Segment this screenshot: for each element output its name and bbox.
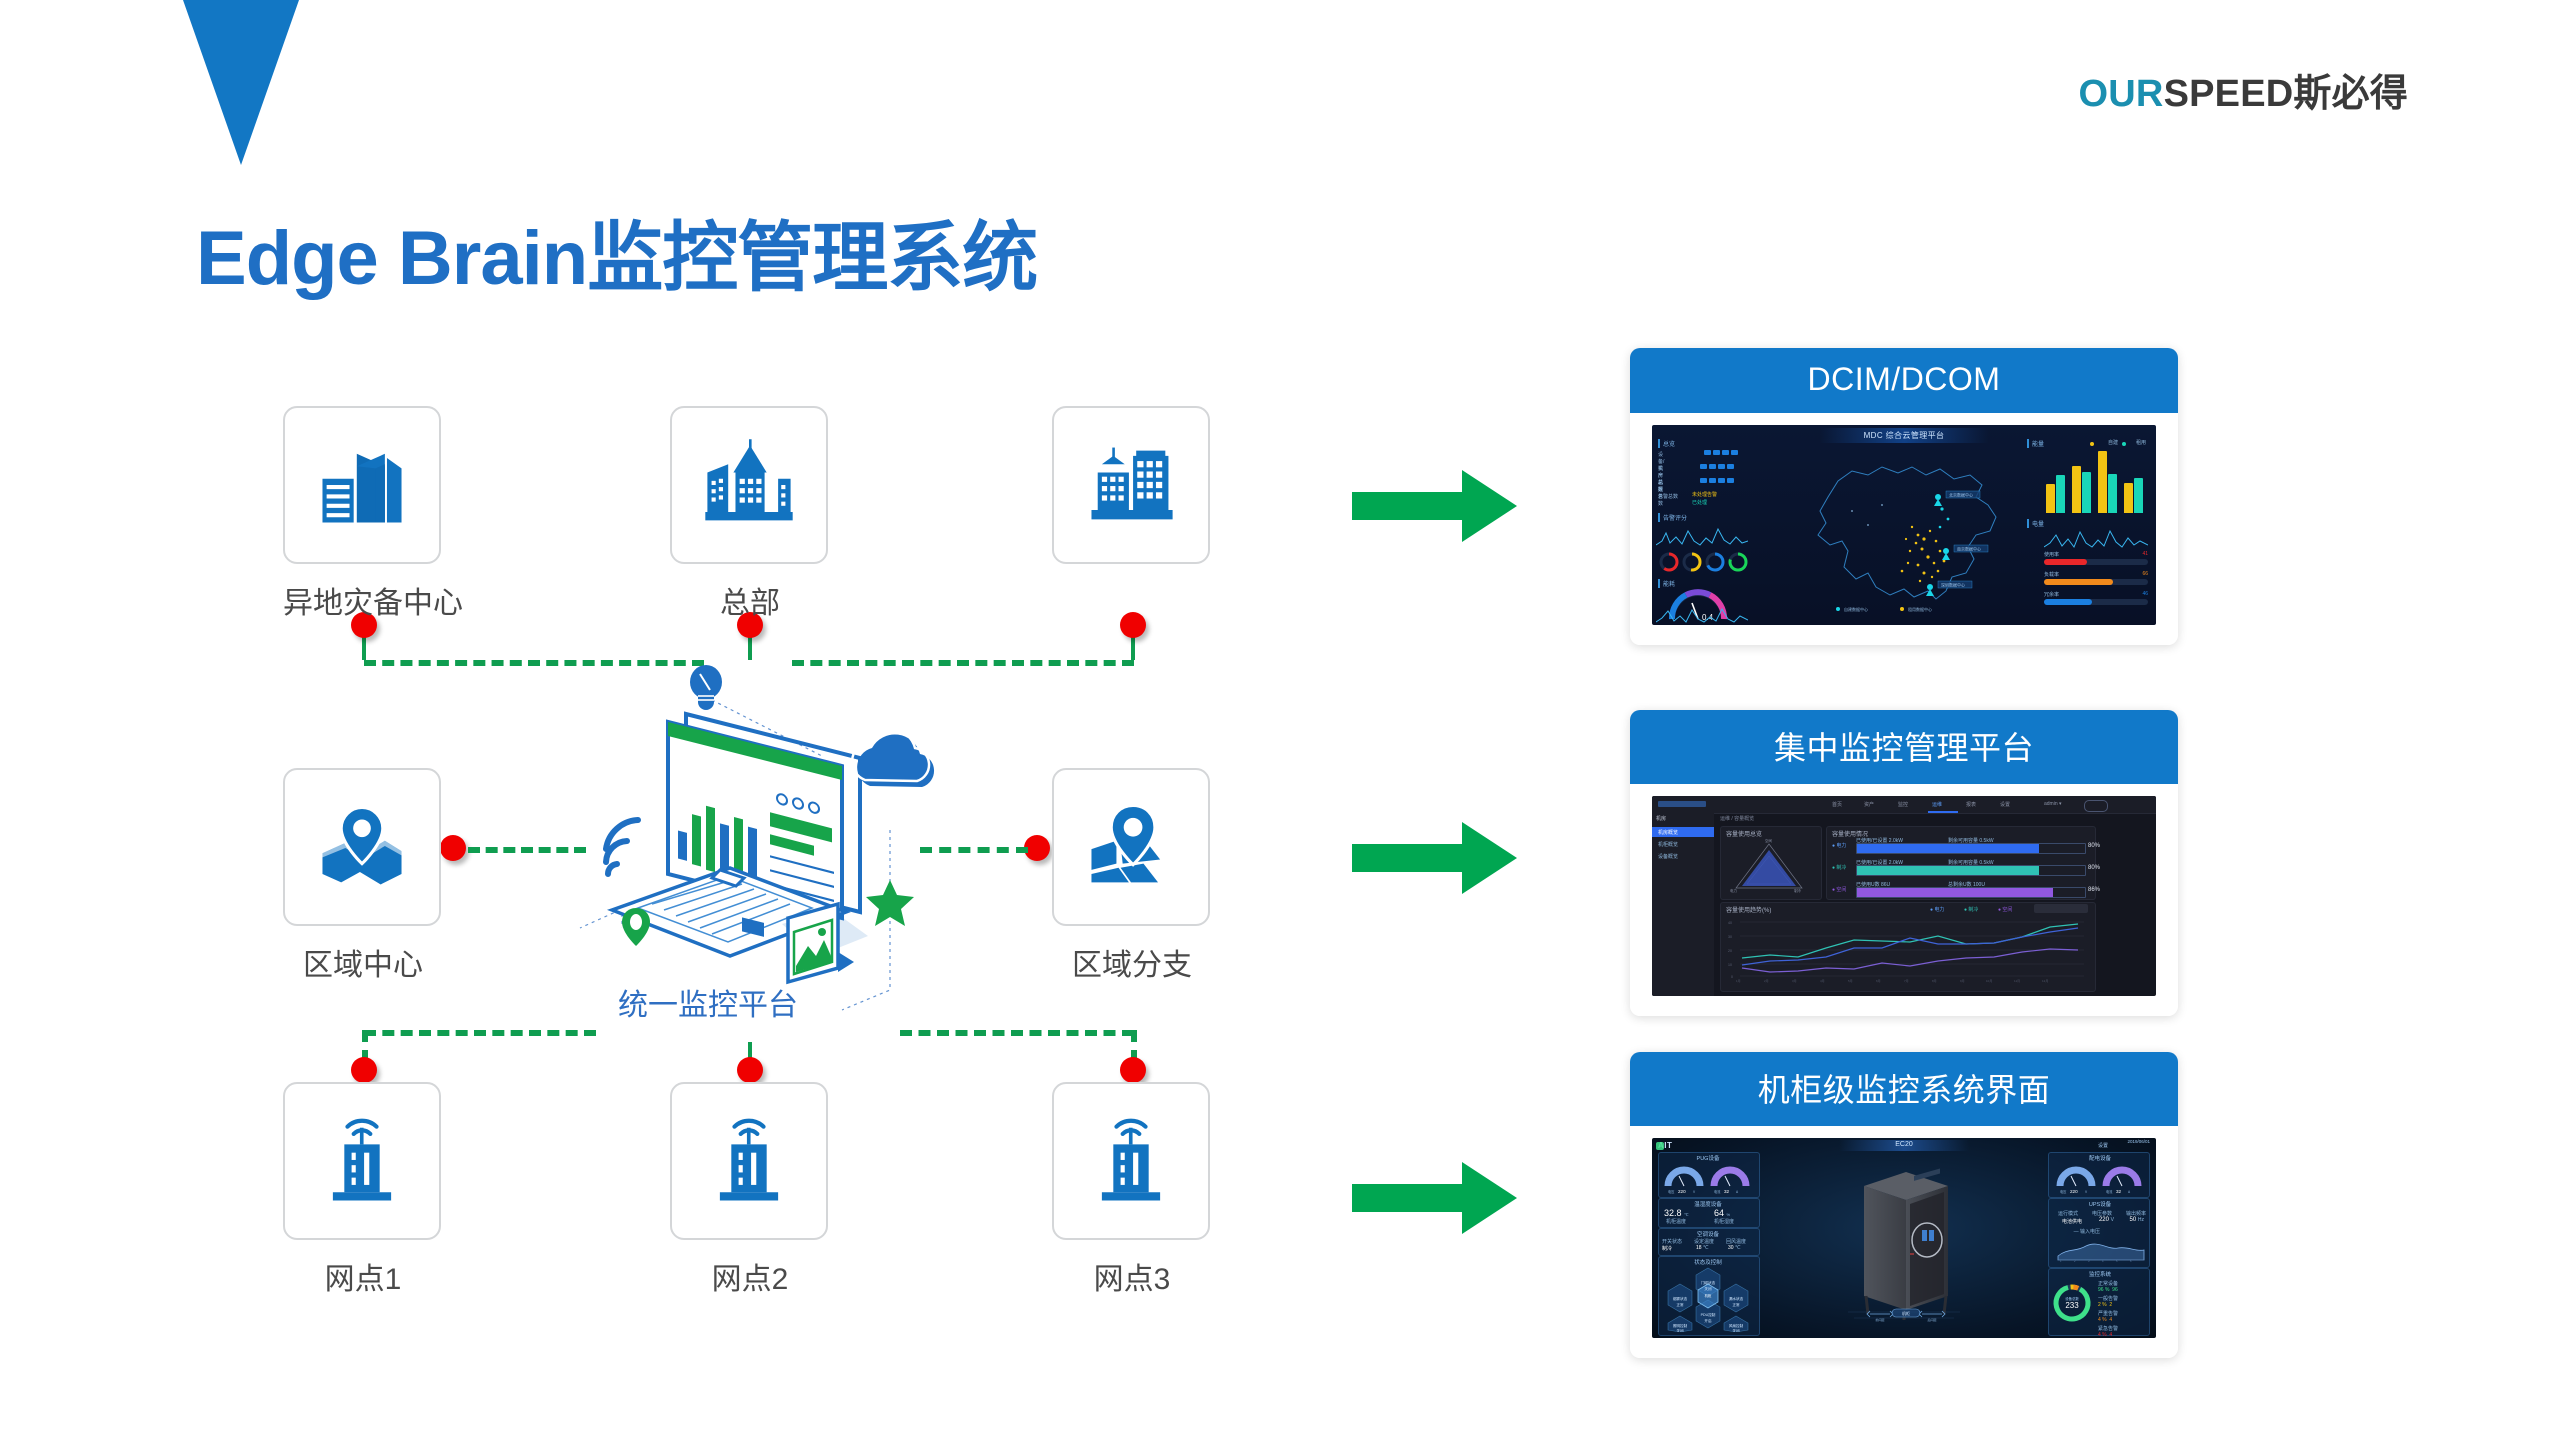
theme-toggle[interactable]: [2084, 800, 2108, 812]
panel-dcim[interactable]: DCIM/DCOM MDC 综合云管理平台 总览 设备/资产总数 机房总数: [1630, 348, 2178, 645]
svg-text:32: 32: [2116, 1189, 2122, 1194]
panel-body: AIT EC20 设置 2019/06/01 PUG设备 电压220V 电流32…: [1630, 1126, 2178, 1358]
svg-text:电压: 电压: [2060, 1189, 2067, 1194]
svg-text:10月: 10月: [1986, 979, 1992, 983]
connector-dot: [440, 835, 466, 861]
svg-text:4月: 4月: [1820, 979, 1825, 983]
city-buildings-icon: [697, 433, 801, 537]
panel-body: 首页 资产 监控 运维 报表 设置 admin ▾ 机房 机房概览 机柜概览 设: [1630, 784, 2178, 1016]
svg-text:电流: 电流: [1714, 1189, 1721, 1194]
node-icon-box: [283, 406, 441, 564]
svg-text:风扇控制: 风扇控制: [1729, 1323, 1744, 1328]
node-branch-tower[interactable]: [1052, 406, 1212, 578]
nav-item[interactable]: 资产: [1864, 801, 1874, 808]
node-label: 网点1: [283, 1254, 443, 1298]
panel-body: MDC 综合云管理平台 总览 设备/资产总数 机房总数: [1630, 413, 2178, 645]
brand-logo-suffix: SPEED斯必得: [2164, 73, 2408, 115]
svg-text:深圳数据中心: 深圳数据中心: [1941, 582, 1965, 588]
card-title: 容量使用趋势(%): [1726, 905, 1771, 914]
app-logo: [1658, 801, 1706, 807]
svg-text:漏水状态: 漏水状态: [1729, 1296, 1744, 1301]
svg-text:5月: 5月: [1848, 979, 1853, 983]
panel-central-monitoring[interactable]: 集中监控管理平台 首页 资产 监控 运维 报表 设置 admin ▾: [1630, 710, 2178, 1016]
architecture-diagram: 异地灾备中心: [0, 330, 1420, 1400]
node-headquarters[interactable]: 总部: [670, 406, 830, 622]
card-title: 空调设备: [1658, 1230, 1758, 1238]
sparkline: [1656, 607, 1748, 625]
node-dr-center[interactable]: 异地灾备中心: [283, 406, 443, 622]
brand-logo-prefix: OUR: [2079, 73, 2164, 115]
svg-text:0: 0: [1731, 975, 1733, 979]
card-title: UPS设备: [2050, 1200, 2150, 1208]
alarm-donut: 设备总数 233: [2050, 1280, 2094, 1326]
connector-dot: [1120, 612, 1146, 638]
panel-rack-monitoring[interactable]: 机柜级监控系统界面 AIT EC20 设置 2019/06/01 PUG设备: [1630, 1052, 2178, 1358]
svg-text:自建数据中心: 自建数据中心: [1844, 606, 1868, 612]
svg-text:门磁状态: 门磁状态: [1701, 1280, 1716, 1285]
svg-text:空间: 空间: [1765, 838, 1773, 843]
svg-text:电压: 电压: [1668, 1189, 1675, 1194]
sparkline: [1656, 523, 1748, 549]
card-title: PUG设备: [1658, 1154, 1758, 1162]
svg-text:233: 233: [2065, 1301, 2079, 1310]
svg-text:30: 30: [1728, 935, 1732, 939]
node-icon-box: [283, 768, 441, 926]
svg-text:制冷: 制冷: [1794, 888, 1802, 893]
settings-label: 设置: [2098, 1142, 2108, 1149]
svg-text:A: A: [2128, 1190, 2131, 1194]
svg-text:2月: 2月: [1764, 979, 1769, 983]
svg-text:20: 20: [1728, 949, 1732, 953]
antenna-tower-icon: [1079, 1109, 1183, 1213]
nav-item-active[interactable]: 运维: [1932, 801, 1942, 808]
node-icon-box: [1052, 406, 1210, 564]
node-site-3[interactable]: 网点3: [1052, 1082, 1212, 1298]
svg-text:V: V: [2085, 1190, 2088, 1194]
brand-logo: OURSPEED斯必得: [2079, 62, 2408, 117]
date-label: 2019/06/01: [2127, 1139, 2150, 1144]
map-pin-icon: [1079, 795, 1183, 899]
twin-towers-icon: [1079, 433, 1183, 537]
card-title: 容量使用总览: [1726, 829, 1762, 838]
svg-text:租用数据中心: 租用数据中心: [1908, 606, 1932, 612]
svg-text:开启: 开启: [1704, 1318, 1712, 1323]
china-map: 北京数据中心 南京数据中心 深圳数据中心 自建数据中心 租用数据中心: [1790, 439, 2030, 621]
connector-line: [364, 1030, 596, 1036]
svg-text:7月: 7月: [1904, 979, 1909, 983]
section-label: 能量: [2027, 439, 2044, 448]
center-platform-label: 统一监控平台: [618, 980, 798, 1024]
dashboard-sidebar[interactable]: 机房 机房概览 机柜概览 设备概览: [1652, 813, 1714, 996]
panel-title: 集中监控管理平台: [1630, 710, 2178, 784]
svg-text:220: 220: [1678, 1189, 1686, 1194]
svg-text:烟雾状态: 烟雾状态: [1673, 1296, 1688, 1301]
nav-item[interactable]: 报表: [1966, 801, 1976, 808]
page-title: Edge Brain监控管理系统: [196, 196, 1037, 306]
trend-line-chart: 403020100 1月2月3月4月 5月6月7月8月 9月10月11月12月: [1726, 916, 2088, 984]
svg-text:关闭: 关闭: [1732, 1328, 1740, 1332]
svg-text:12月: 12月: [2042, 979, 2048, 983]
svg-text:10: 10: [1728, 963, 1732, 967]
slide-root: OURSPEED斯必得 Edge Brain监控管理系统: [0, 0, 2560, 1440]
right-arrow: [1352, 470, 1517, 547]
node-regional-branch[interactable]: 区域分支: [1052, 768, 1212, 984]
node-site-2[interactable]: 网点2: [670, 1082, 830, 1298]
ups-area-chart: 123456: [2054, 1234, 2146, 1262]
node-icon-box: [1052, 768, 1210, 926]
rack-cabinet-render: 机柜 前间距 后间距: [1844, 1162, 1964, 1322]
node-icon-box: [670, 406, 828, 564]
node-label: 网点3: [1052, 1254, 1212, 1298]
dashboard-navbar[interactable]: 首页 资产 监控 运维 报表 设置 admin ▾: [1652, 796, 2156, 814]
svg-text:南京数据中心: 南京数据中心: [1957, 546, 1981, 552]
svg-text:8月: 8月: [1932, 979, 1937, 983]
isometric-laptop-dashboard-illustration: [560, 660, 980, 1020]
panel-title: 机柜级监控系统界面: [1630, 1052, 2178, 1126]
svg-text:正常: 正常: [1676, 1302, 1684, 1307]
svg-text:机柜: 机柜: [1705, 1293, 1712, 1298]
node-site-1[interactable]: 网点1: [283, 1082, 443, 1298]
office-building-icon: [310, 433, 414, 537]
nav-active-underline: [1928, 811, 1958, 813]
node-icon-box: [670, 1082, 828, 1240]
sparkline: [2044, 527, 2148, 551]
range-selector[interactable]: [2034, 904, 2088, 913]
gauge-pair: 电压220V 电流32A: [2056, 1162, 2144, 1194]
right-arrow: [1352, 822, 1517, 899]
svg-text:前间距: 前间距: [1875, 1317, 1884, 1322]
svg-text:后间距: 后间距: [1927, 1317, 1936, 1322]
user-menu[interactable]: admin ▾: [2044, 801, 2062, 807]
svg-text:关闭: 关闭: [1676, 1328, 1684, 1332]
antenna-tower-icon: [310, 1109, 414, 1213]
section-label: 总览: [1658, 439, 1675, 448]
svg-text:PDU控制: PDU控制: [1701, 1312, 1716, 1317]
node-regional-center[interactable]: 区域中心: [283, 768, 443, 984]
connector-line: [900, 1030, 1134, 1036]
svg-text:照明控制: 照明控制: [1673, 1323, 1688, 1328]
svg-text:机柜: 机柜: [1902, 1310, 1910, 1316]
node-label: 总部: [670, 578, 830, 622]
card-title: 状态及控制: [1658, 1258, 1758, 1266]
node-icon-box: [1052, 1082, 1210, 1240]
svg-text:6月: 6月: [1876, 979, 1881, 983]
mdc-cloud-platform-dashboard: MDC 综合云管理平台 总览 设备/资产总数 机房总数: [1652, 425, 2156, 625]
svg-text:电流: 电流: [2106, 1189, 2113, 1194]
card-title: 温湿度设备: [1658, 1200, 1758, 1208]
svg-text:正常: 正常: [1732, 1302, 1740, 1307]
svg-text:电力: 电力: [1730, 888, 1738, 893]
svg-text:3月: 3月: [1792, 979, 1797, 983]
svg-text:1月: 1月: [1736, 979, 1741, 983]
nav-item[interactable]: 首页: [1832, 801, 1842, 808]
radar-chart: 空间 电力 制冷: [1730, 838, 1808, 894]
right-arrow: [1352, 1162, 1517, 1239]
svg-text:32: 32: [1724, 1189, 1730, 1194]
svg-text:关闭: 关闭: [1704, 1286, 1712, 1291]
nav-item[interactable]: 设置: [2000, 801, 2010, 808]
card-title: 配电设备: [2050, 1154, 2150, 1162]
device-name: EC20: [1895, 1141, 1913, 1148]
centralized-monitoring-dashboard: 首页 资产 监控 运维 报表 设置 admin ▾ 机房 机房概览 机柜概览 设: [1652, 796, 2156, 996]
card-title: 监控系统: [2050, 1270, 2150, 1278]
nav-item[interactable]: 监控: [1898, 801, 1908, 808]
connector-dot: [1120, 1057, 1146, 1083]
svg-text:A: A: [1736, 1190, 1739, 1194]
svg-text:北京数据中心: 北京数据中心: [1949, 492, 1973, 498]
svg-text:11月: 11月: [2014, 979, 2020, 983]
connector-dot: [351, 1057, 377, 1083]
node-label: 异地灾备中心: [283, 578, 443, 622]
svg-text:220: 220: [2070, 1189, 2078, 1194]
gauge-pair: 电压220V 电流32A: [1664, 1162, 1752, 1194]
svg-text:40: 40: [1728, 921, 1732, 925]
map-pin-icon: [310, 795, 414, 899]
section-label: 电量: [2027, 519, 2044, 528]
temperature-value: 32.8 ℃: [1664, 1208, 1689, 1218]
ring-gauges: [1658, 551, 1750, 575]
svg-text:9月: 9月: [1960, 979, 1965, 983]
node-label: 区域分支: [1052, 940, 1212, 984]
svg-text:V: V: [1693, 1190, 1696, 1194]
hex-control-grid[interactable]: 门磁状态关闭 烟雾状态正常 漏水状态正常 机柜 照明控制关闭 风扇控制关闭 PD…: [1662, 1266, 1754, 1332]
humidity-value: 64 %: [1714, 1208, 1730, 1218]
antenna-tower-icon: [697, 1109, 801, 1213]
node-label: 网点2: [670, 1254, 830, 1298]
section-label: 告警评分: [1658, 513, 1687, 522]
node-icon-box: [283, 1082, 441, 1240]
connector-dot: [737, 1057, 763, 1083]
node-label: 区域中心: [283, 940, 443, 984]
logo-mark: [1656, 1142, 1664, 1150]
triangle-decoration: [183, 0, 299, 165]
panel-title: DCIM/DCOM: [1630, 348, 2178, 413]
rack-level-monitoring-ui: AIT EC20 设置 2019/06/01 PUG设备 电压220V 电流32…: [1652, 1138, 2156, 1338]
